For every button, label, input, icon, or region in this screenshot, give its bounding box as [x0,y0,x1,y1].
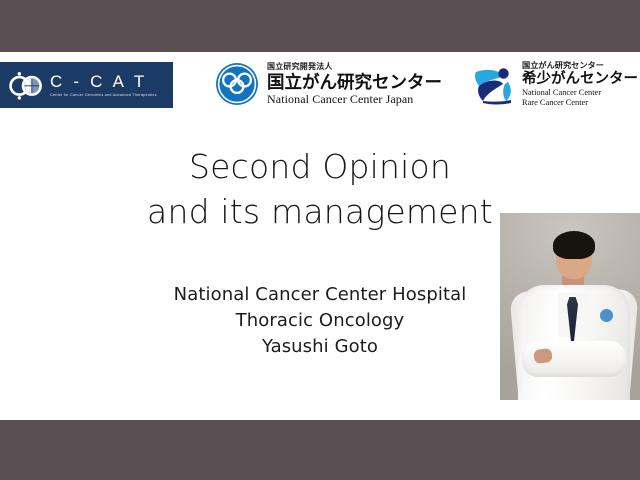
rcc-line2: 希少がんセンター [522,71,638,88]
ncc-japan-line1: 国立研究開発法人 [267,62,442,72]
rcc-line4: Rare Cancer Center [522,98,638,108]
rcc-line3: National Cancer Center [522,88,638,98]
c-cat-tagline: Center for Cancer Genomics and Advanced … [50,92,157,98]
two-interlocking-circles-icon [6,68,46,102]
logo-row: C - C A T Center for Cancer Genomics and… [0,52,640,114]
c-cat-wordmark: C - C A T [50,73,157,91]
rare-cancer-center-text-block: 国立がん研究センター 希少がんセンター National Cancer Cent… [522,61,638,108]
abstract-human-figure-icon [470,60,518,108]
rcc-line1: 国立がん研究センター [522,61,638,71]
slide-title-line1: Second Opinion [0,144,640,189]
three-rings-in-circle-icon [214,61,260,107]
portrait-coat-emblem [600,309,613,322]
presentation-slide-frame: C - C A T Center for Cancer Genomics and… [0,0,640,480]
portrait-hair [553,231,595,259]
rare-cancer-center-logo: 国立がん研究センター 希少がんセンター National Cancer Cent… [470,57,640,111]
letterbox-bar-bottom [0,420,640,480]
slide-canvas: C - C A T Center for Cancer Genomics and… [0,52,640,420]
speaker-portrait-photo [500,213,640,400]
letterbox-bar-top [0,0,640,52]
national-cancer-center-japan-logo: 国立研究開発法人 国立がん研究センター National Cancer Cent… [214,58,439,110]
ncc-japan-line3: National Cancer Center Japan [267,92,442,106]
ncc-japan-text-block: 国立研究開発法人 国立がん研究センター National Cancer Cent… [267,62,442,106]
c-cat-wordmark-block: C - C A T Center for Cancer Genomics and… [50,73,157,98]
c-cat-logo: C - C A T Center for Cancer Genomics and… [0,62,173,108]
ncc-japan-line2: 国立がん研究センター [267,72,442,92]
